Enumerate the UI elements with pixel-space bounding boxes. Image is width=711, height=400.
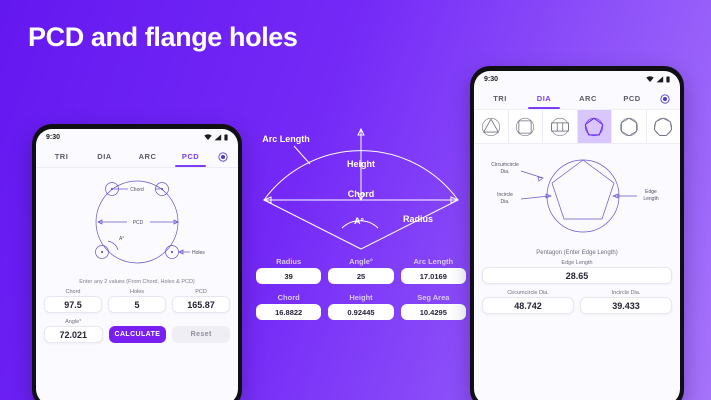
input-hint: Enter any 2 values (From Chord, Holes & … <box>36 276 238 289</box>
field-pcd-label: PCD <box>195 289 207 295</box>
field-circumcircle-dia-label: Circumcircle Dia. <box>507 290 549 296</box>
field-circumcircle-dia-value: 48.742 <box>482 297 574 314</box>
triangle-in-circle-icon <box>480 116 502 138</box>
pcd-flange-diagram: Chord PCD A° Holes <box>36 168 238 276</box>
field-chord[interactable]: Chord 16.8822 <box>256 293 321 320</box>
label-chord: Chord <box>130 187 144 193</box>
rectangle-in-circle-icon <box>549 116 571 138</box>
field-edge-length-label: Edge Length <box>561 260 592 266</box>
label-angle: A° <box>354 216 364 226</box>
field-holes-label: Holes <box>130 289 144 295</box>
left-field-row-1: Chord 97.5 Holes 5 PCD 165.87 <box>36 289 238 319</box>
field-height-label: Height <box>349 293 372 302</box>
field-radius-input[interactable]: 39 <box>256 268 321 284</box>
field-chord-input[interactable]: 97.5 <box>44 296 102 313</box>
tab-tri[interactable]: TRI <box>478 88 522 109</box>
right-phone-mockup: 9:30 TRI DIA ARC PCD <box>470 66 684 400</box>
square-in-circle-icon <box>514 116 536 138</box>
field-radius[interactable]: Radius 39 <box>256 257 321 284</box>
page-title: PCD and flange holes <box>28 22 298 53</box>
status-time: 9:30 <box>484 76 498 83</box>
tab-arc[interactable]: ARC <box>566 88 610 109</box>
left-phone-mockup: 9:30 TRI DIA ARC PCD <box>32 124 242 400</box>
field-angle[interactable]: Angle° 72.021 <box>44 319 103 343</box>
wifi-icon <box>204 134 212 141</box>
field-angle[interactable]: Angle° 25 <box>328 257 393 284</box>
field-holes-input[interactable]: 5 <box>108 296 166 313</box>
label-arc-length: Arc Length <box>262 134 310 144</box>
field-incircle-dia-label: Incircle Dia. <box>612 290 641 296</box>
field-incircle-dia-value: 39.433 <box>580 297 672 314</box>
field-edge-length-input[interactable]: 28.65 <box>482 267 672 284</box>
settings-button[interactable] <box>654 88 676 109</box>
field-pcd-input[interactable]: 165.87 <box>172 296 230 313</box>
calculate-button[interactable]: CALCULATE <box>109 326 167 343</box>
left-phone-screen: 9:30 TRI DIA ARC PCD <box>36 129 238 400</box>
tab-pcd[interactable]: PCD <box>610 88 654 109</box>
field-circumcircle-dia[interactable]: Circumcircle Dia. 48.742 <box>482 290 574 314</box>
shape-pentagon-button[interactable] <box>578 110 613 143</box>
label-height: Height <box>347 159 375 169</box>
field-height[interactable]: Height 0.92445 <box>328 293 393 320</box>
field-chord-input[interactable]: 16.8822 <box>256 304 321 320</box>
label-edge-1: Edge <box>645 189 657 195</box>
right-field-row-results: Circumcircle Dia. 48.742 Incircle Dia. 3… <box>474 290 680 320</box>
center-field-row-2: Chord 16.8822 Height 0.92445 Seg Area 10… <box>250 293 472 320</box>
shape-hexagon-button[interactable] <box>612 110 647 143</box>
tab-pcd[interactable]: PCD <box>169 146 212 167</box>
label-chord: Chord <box>348 189 375 199</box>
label-circumcircle-1: Circumcircle <box>491 162 519 168</box>
tab-dia[interactable]: DIA <box>83 146 126 167</box>
status-icons <box>646 76 670 83</box>
shape-square-button[interactable] <box>509 110 544 143</box>
field-incircle-dia[interactable]: Incircle Dia. 39.433 <box>580 290 672 314</box>
field-chord-label: Chord <box>278 293 300 302</box>
arc-sector-diagram: Arc Length Height Chord Radius A° <box>250 104 472 254</box>
label-angle: A° <box>119 236 124 242</box>
field-seg-area-label: Seg Area <box>417 293 449 302</box>
right-tab-bar[interactable]: TRI DIA ARC PCD <box>474 88 680 110</box>
right-field-row-main: Edge Length 28.65 <box>474 260 680 290</box>
pentagon-diagram: Circumcircle Dia. Incircle Dia. Edge Len… <box>474 144 680 248</box>
field-arc-length[interactable]: Arc Length 17.0169 <box>401 257 466 284</box>
tab-tri[interactable]: TRI <box>40 146 83 167</box>
field-seg-area[interactable]: Seg Area 10.4295 <box>401 293 466 320</box>
field-edge-length[interactable]: Edge Length 28.65 <box>482 260 672 284</box>
label-incircle-1: Incircle <box>497 192 513 198</box>
field-arc-length-label: Arc Length <box>414 257 454 266</box>
field-holes[interactable]: Holes 5 <box>108 289 166 313</box>
label-pcd: PCD <box>133 220 144 226</box>
right-phone-screen: 9:30 TRI DIA ARC PCD <box>474 71 680 400</box>
field-angle-input[interactable]: 72.021 <box>44 326 103 343</box>
field-arc-length-input[interactable]: 17.0169 <box>401 268 466 284</box>
gear-icon <box>660 94 670 104</box>
field-angle-input[interactable]: 25 <box>328 268 393 284</box>
status-bar: 9:30 <box>474 71 680 88</box>
left-field-row-2: Angle° 72.021 CALCULATE Reset <box>36 319 238 349</box>
center-field-row-1: Radius 39 Angle° 25 Arc Length 17.0169 <box>250 257 472 284</box>
gear-icon <box>218 152 228 162</box>
field-angle-label: Angle° <box>349 257 373 266</box>
status-icons <box>204 134 228 141</box>
center-arc-section: Arc Length Height Chord Radius A° Radius… <box>250 104 472 364</box>
wifi-icon <box>646 76 654 83</box>
label-circumcircle-2: Dia. <box>501 169 510 175</box>
settings-button[interactable] <box>212 146 234 167</box>
status-bar: 9:30 <box>36 129 238 146</box>
battery-icon <box>666 76 670 83</box>
shape-rectangle-button[interactable] <box>543 110 578 143</box>
tab-dia[interactable]: DIA <box>522 88 566 109</box>
pentagon-in-circle-icon <box>583 116 605 138</box>
battery-icon <box>224 134 228 141</box>
shape-heptagon-button[interactable] <box>647 110 681 143</box>
signal-icon <box>656 76 664 83</box>
diagram-caption: Pentagon (Enter Edge Length) <box>474 248 680 260</box>
label-holes: Holes <box>192 250 205 256</box>
left-tab-bar[interactable]: TRI DIA ARC PCD <box>36 146 238 168</box>
signal-icon <box>214 134 222 141</box>
heptagon-in-circle-icon <box>652 116 674 138</box>
field-angle-label: Angle° <box>65 319 81 325</box>
tab-arc[interactable]: ARC <box>126 146 169 167</box>
reset-button[interactable]: Reset <box>172 326 230 343</box>
field-seg-area-input[interactable]: 10.4295 <box>401 304 466 320</box>
field-chord[interactable]: Chord 97.5 <box>44 289 102 313</box>
status-time: 9:30 <box>46 134 60 141</box>
hexagon-in-circle-icon <box>618 116 640 138</box>
field-pcd[interactable]: PCD 165.87 <box>172 289 230 313</box>
label-incircle-2: Dia. <box>501 199 510 205</box>
field-height-input[interactable]: 0.92445 <box>328 304 393 320</box>
shape-triangle-button[interactable] <box>474 110 509 143</box>
shape-selector[interactable] <box>474 110 680 144</box>
field-radius-label: Radius <box>276 257 301 266</box>
label-edge-2: Length <box>643 196 659 202</box>
label-radius: Radius <box>403 214 433 224</box>
field-chord-label: Chord <box>66 289 81 295</box>
